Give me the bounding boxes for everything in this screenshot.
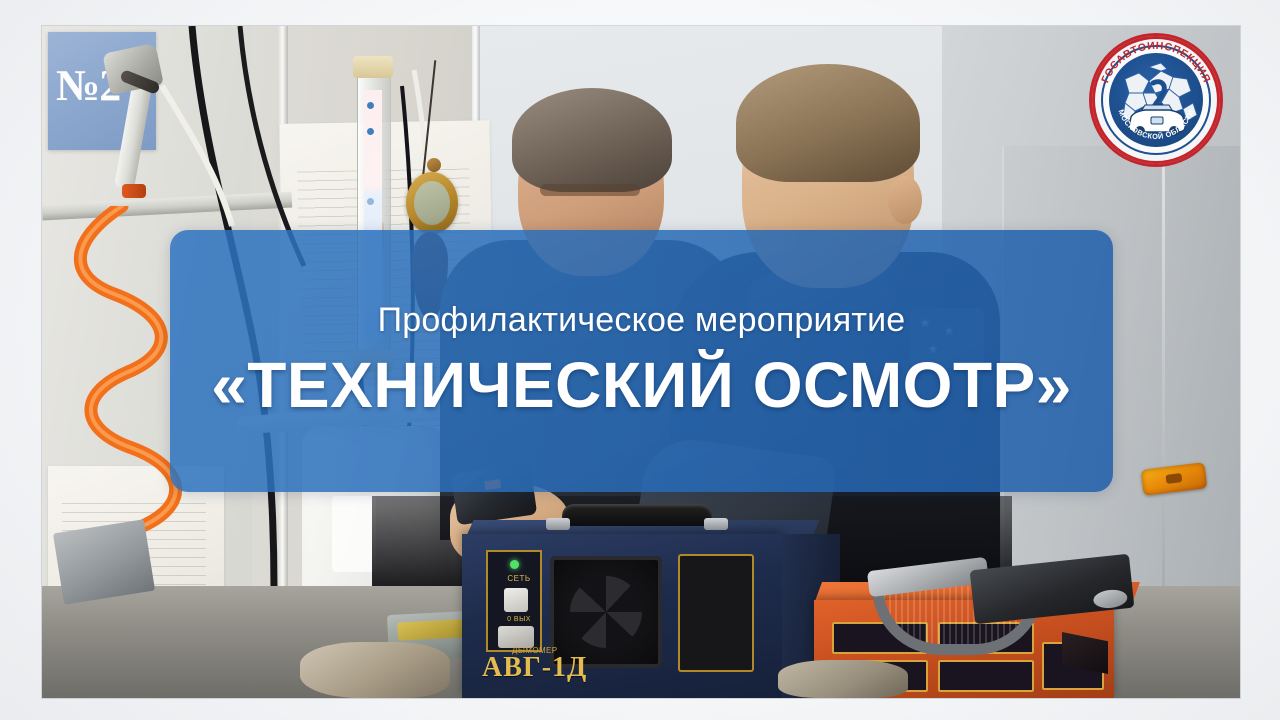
svg-text:МОСКОВСКОЙ ОБЛАСТИ: МОСКОВСКОЙ ОБЛАСТИ <box>1116 108 1195 141</box>
analyzer-power-label: СЕТЬ <box>494 574 544 583</box>
meter-display-4 <box>938 660 1034 692</box>
emblem-ring-text: ГОСАВТОИНСПЕКЦИЯ МОСКОВСКОЙ ОБЛАСТИ <box>1092 36 1220 164</box>
analyzer-power-led <box>510 560 519 569</box>
svg-text:ГОСАВТОИНСПЕКЦИЯ: ГОСАВТОИНСПЕКЦИЯ <box>1099 40 1212 85</box>
floor-rag-left <box>300 642 450 698</box>
person-left-brow <box>540 184 640 196</box>
medallion-icon <box>406 172 458 234</box>
emblem-bottom-text: МОСКОВСКОЙ ОБЛАСТИ <box>1116 108 1195 141</box>
analyzer-power-switch[interactable] <box>504 588 528 612</box>
person-right-ear <box>888 176 922 224</box>
analyzer-brand-text: АВГ <box>482 652 542 683</box>
analyzer-carry-handle <box>562 504 712 526</box>
medallion-bead <box>427 158 441 172</box>
person-left-hair <box>512 88 672 192</box>
poster-canvas: №2 <box>0 0 1280 720</box>
banner-title: «ТЕХНИЧЕСКИЙ ОСМОТР» <box>211 348 1072 422</box>
floor-rag-right <box>778 660 908 698</box>
analyzer-model-text: -1Д <box>542 652 588 683</box>
emblem-top-text: ГОСАВТОИНСПЕКЦИЯ <box>1099 40 1212 85</box>
person-right-hair <box>736 64 920 182</box>
analyzer-zero-label: 0 ВЫХ <box>494 616 544 623</box>
floor-equipment-box <box>53 519 155 605</box>
analyzer-connector-port <box>498 626 534 648</box>
gosavtoinspekciya-emblem: ГОСАВТОИНСПЕКЦИЯ МОСКОВСКОЙ ОБЛАСТИ <box>1092 36 1220 164</box>
banner-subtitle: Профилактическое мероприятие <box>378 301 906 340</box>
analyzer-brand-label: АВГ-1Д <box>482 652 732 684</box>
title-banner: Профилактическое мероприятие «ТЕХНИЧЕСКИ… <box>170 230 1113 492</box>
tank-label <box>332 496 376 572</box>
thermometer-cap-top <box>353 56 393 78</box>
